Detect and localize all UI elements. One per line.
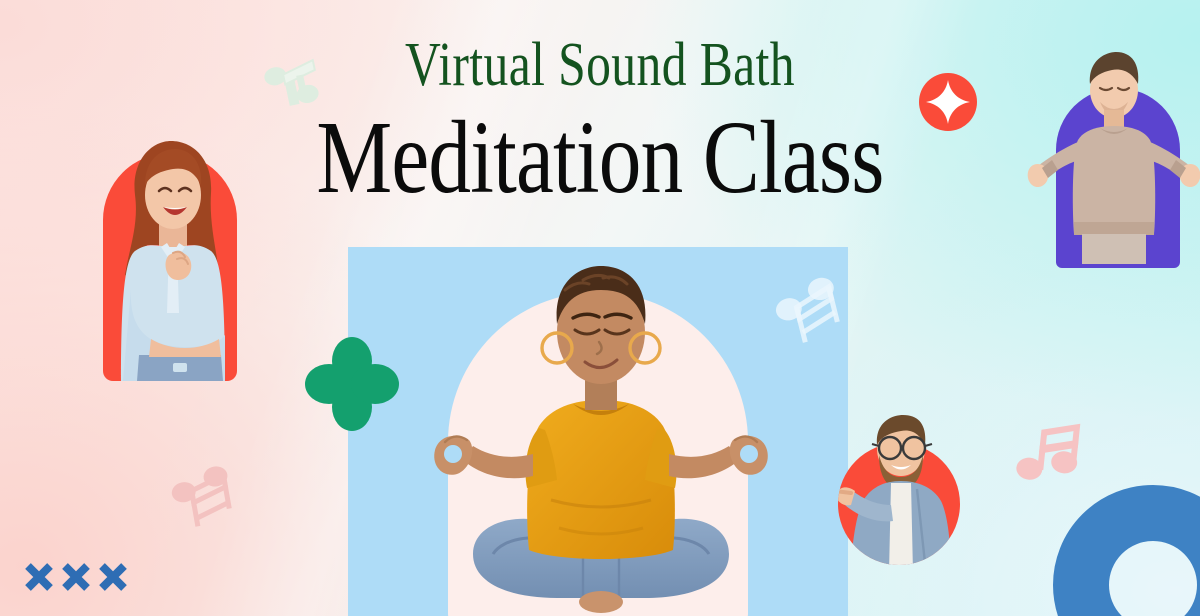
blue-ring-icon [1068,500,1200,616]
music-note-white-icon [770,273,848,365]
music-note-pink-right-icon [1013,413,1091,495]
meditation-class-banner: Virtual Sound Bath Meditation Class [0,0,1200,616]
center-image-panel [348,247,848,616]
banner-kicker: Virtual Sound Bath [120,34,1080,96]
three-x-marks-icon [24,560,128,594]
man-pointing-photo [833,413,965,558]
music-note-pink-left-icon [168,462,250,544]
banner-headline: Meditation Class [108,106,1092,210]
woman-meditating-center-photo [433,254,763,616]
banner-heading-group: Virtual Sound Bath Meditation Class [0,34,1200,210]
clover-icon [303,335,401,433]
